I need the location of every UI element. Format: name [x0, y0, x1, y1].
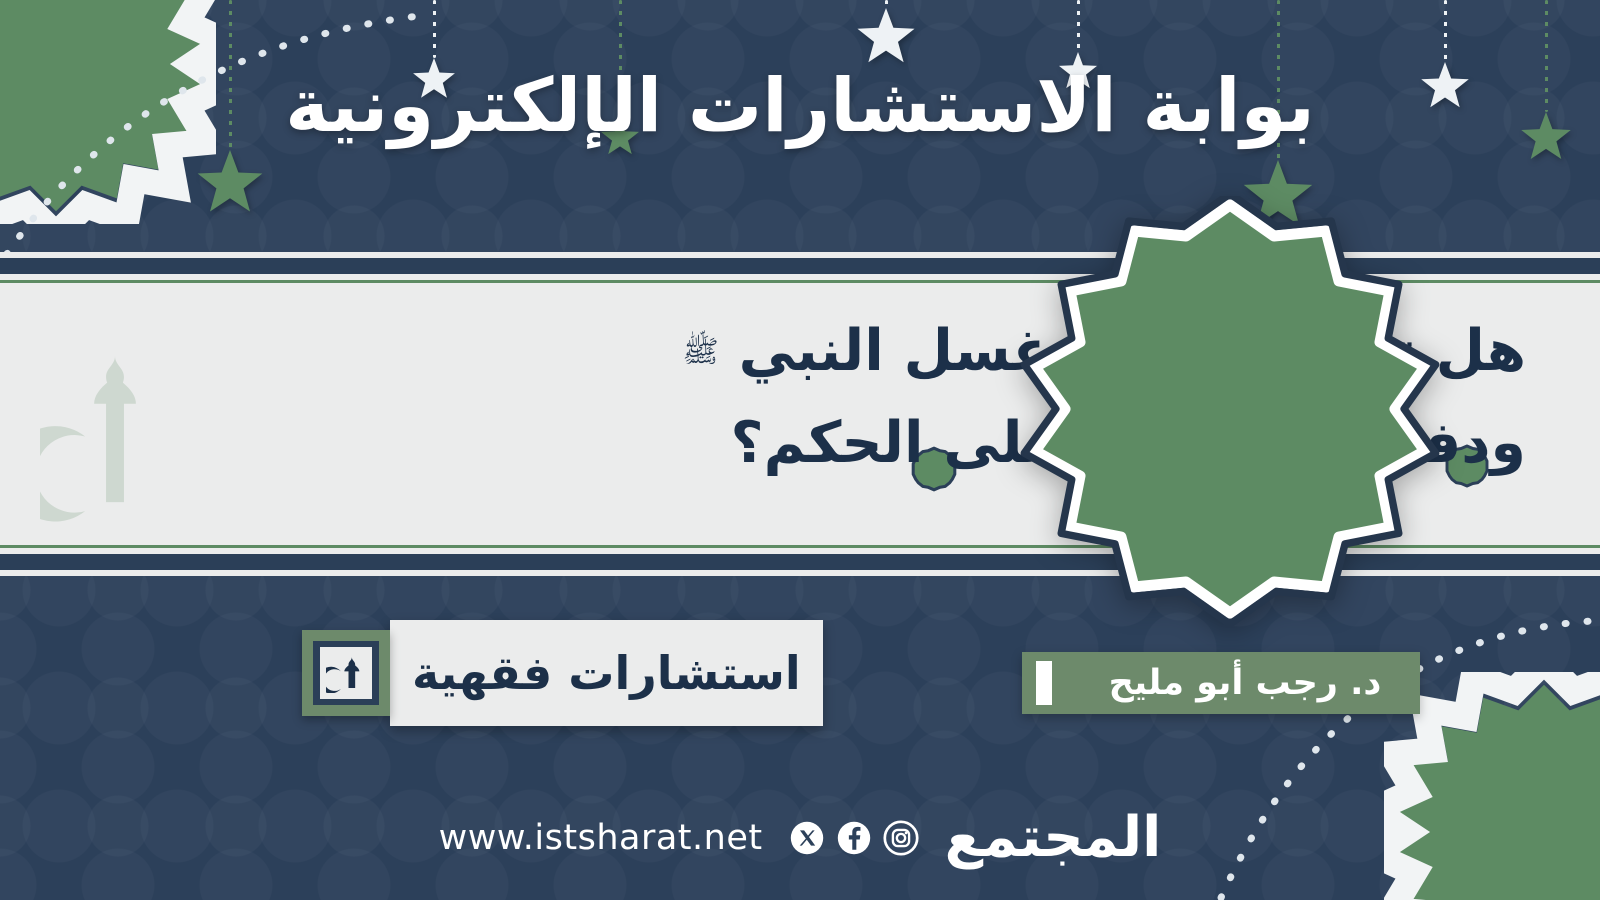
star-string	[433, 0, 436, 58]
category-label: استشارات فقهية	[412, 646, 801, 700]
poster-canvas: بوابة الاستشارات الإلكترونية	[0, 0, 1600, 900]
category-badge: استشارات فقهية	[302, 620, 817, 726]
category-icon-outer	[302, 630, 390, 716]
instagram-icon[interactable]	[883, 820, 919, 856]
facebook-icon[interactable]	[836, 820, 872, 856]
speaker-name: د. رجب أبو مليح	[1052, 663, 1420, 703]
peace-be-upon-him-symbol: ﷺ	[682, 335, 718, 370]
speaker-nameplate: د. رجب أبو مليح	[1022, 652, 1420, 714]
nameplate-accent-bar	[1036, 661, 1052, 705]
star-string	[1444, 0, 1447, 62]
mosque-crescent-icon	[320, 647, 372, 699]
star-string	[885, 0, 888, 8]
social-links	[789, 820, 919, 856]
category-badge-plate: استشارات فقهية	[390, 620, 823, 726]
mosque-watermark-icon	[40, 347, 190, 536]
category-icon-inner	[313, 641, 379, 705]
footer: المجتمع	[0, 810, 1600, 866]
star-icon	[196, 150, 264, 218]
website-url: www.istsharat.net	[439, 818, 763, 858]
star-string	[1077, 0, 1080, 52]
speaker-portrait-frame	[1004, 196, 1456, 626]
footer-logo: المجتمع	[945, 810, 1162, 866]
page-title: بوابة الاستشارات الإلكترونية	[0, 58, 1600, 154]
x-twitter-icon[interactable]	[789, 820, 825, 856]
